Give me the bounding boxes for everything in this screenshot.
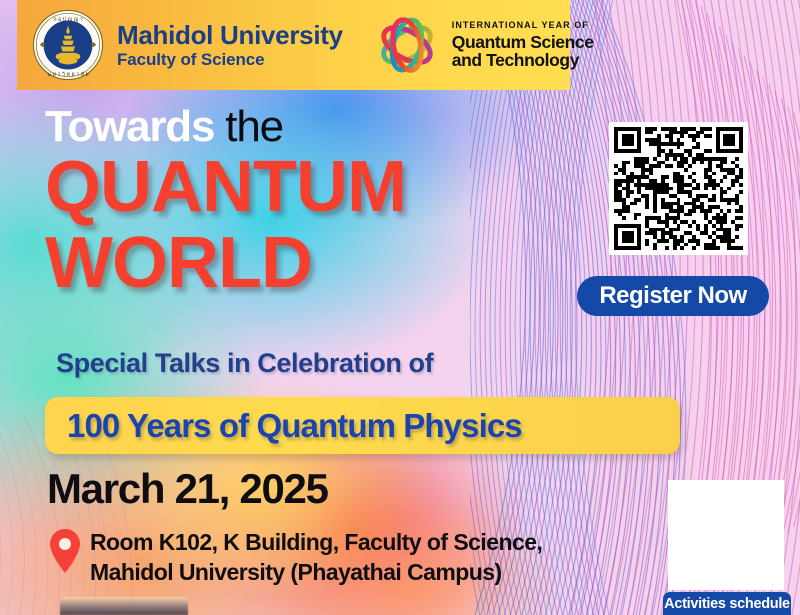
headline-line-1: Towards the <box>45 103 406 151</box>
subtitle: Special Talks in Celebration of <box>56 348 433 379</box>
headline-word-towards: Towards <box>45 102 214 151</box>
headline-block: Towards the QUANTUM WORLD <box>45 103 406 299</box>
qr-code-icon <box>614 127 743 250</box>
event-venue-text: Room K102, K Building, Faculty of Scienc… <box>90 527 542 587</box>
activities-schedule-label: Activities schedule <box>664 596 790 612</box>
photo-peek-decoration <box>60 597 188 615</box>
mahidol-university-seal-icon: ก อ ป ญ ญ า ม ห า วิ ท ย า ลั ย <box>32 9 104 81</box>
register-now-button[interactable]: Register Now <box>577 276 769 316</box>
event-venue-block: Room K102, K Building, Faculty of Scienc… <box>48 527 542 587</box>
activities-schedule-button[interactable]: Activities schedule <box>663 592 791 615</box>
iyq-line-1: INTERNATIONAL YEAR OF <box>452 21 594 30</box>
university-name: Mahidol University <box>117 22 343 49</box>
iyq-line-2: Quantum Science <box>452 33 594 51</box>
faculty-name: Faculty of Science <box>117 51 343 69</box>
venue-line-2: Mahidol University (Phayathai Campus) <box>90 557 542 587</box>
register-qr-code[interactable] <box>609 122 748 255</box>
svg-text:ก อ ป ญ ญ า: ก อ ป ญ ญ า <box>53 16 83 23</box>
anniversary-banner-text: 100 Years of Quantum Physics <box>67 407 522 445</box>
iyq-logo-block: INTERNATIONAL YEAR OF Quantum Science an… <box>371 8 594 82</box>
iyq-text-block: INTERNATIONAL YEAR OF Quantum Science an… <box>452 21 594 68</box>
international-year-quantum-atom-icon <box>371 8 443 82</box>
schedule-qr-code[interactable] <box>668 480 784 590</box>
headline-world: WORLD <box>45 227 406 299</box>
quantum-world-poster: ก อ ป ญ ญ า ม ห า วิ ท ย า ลั ย Mahidol … <box>0 0 800 615</box>
map-pin-icon <box>48 528 82 574</box>
headline-quantum: QUANTUM <box>45 151 406 223</box>
anniversary-banner: 100 Years of Quantum Physics <box>45 397 680 454</box>
venue-line-1: Room K102, K Building, Faculty of Scienc… <box>90 527 542 557</box>
svg-text:ม ห า วิ ท ย า ลั ย: ม ห า วิ ท ย า ลั ย <box>47 71 88 78</box>
iyq-line-3: and Technology <box>452 51 594 69</box>
register-now-label: Register Now <box>599 282 746 310</box>
university-title-block: Mahidol University Faculty of Science <box>117 22 343 69</box>
header-bar: ก อ ป ญ ญ า ม ห า วิ ท ย า ลั ย Mahidol … <box>17 0 570 90</box>
event-date: March 21, 2025 <box>47 465 328 513</box>
headline-word-the: the <box>225 102 283 151</box>
